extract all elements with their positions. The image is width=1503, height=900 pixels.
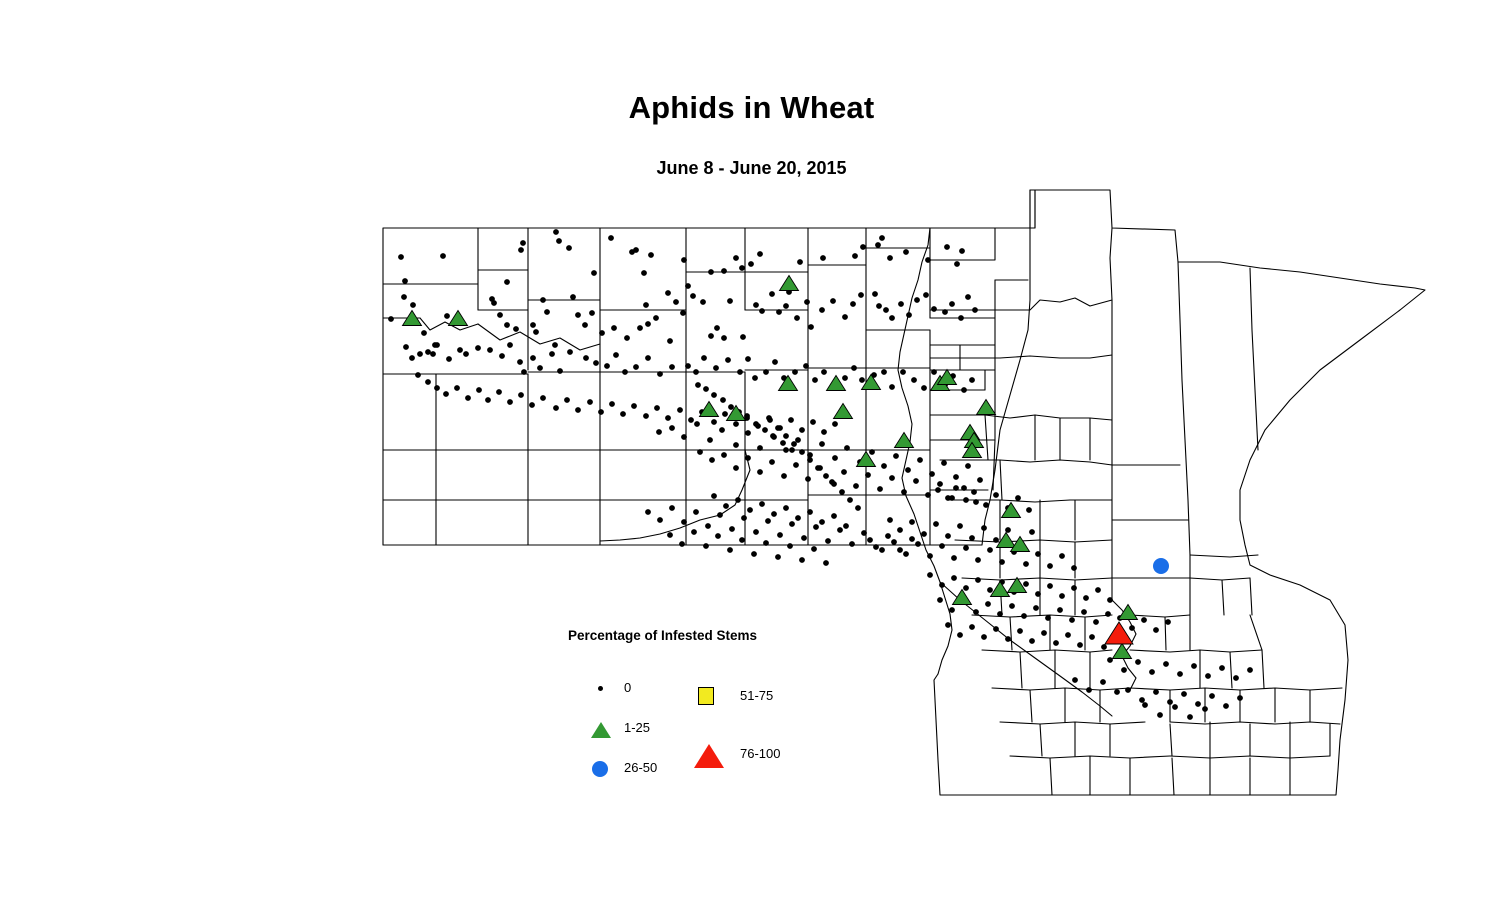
map-point-0 xyxy=(783,505,789,511)
legend-title: Percentage of Infested Stems xyxy=(568,628,757,643)
map-point-0 xyxy=(507,399,513,405)
map-point-1-25 xyxy=(834,404,853,419)
map-point-0 xyxy=(911,377,917,383)
map-point-0 xyxy=(723,503,729,509)
map-point-0 xyxy=(829,479,835,485)
map-point-0 xyxy=(721,268,727,274)
map-point-0 xyxy=(727,298,733,304)
map-point-0 xyxy=(388,316,394,322)
map-point-0 xyxy=(958,315,964,321)
map-point-0 xyxy=(521,369,527,375)
map-point-0 xyxy=(735,497,741,503)
map-point-0 xyxy=(752,375,758,381)
map-point-0 xyxy=(443,391,449,397)
map-point-0 xyxy=(914,297,920,303)
map-point-0 xyxy=(1205,673,1211,679)
map-point-0 xyxy=(819,519,825,525)
map-point-0 xyxy=(624,335,630,341)
map-point-0 xyxy=(953,474,959,480)
map-point-0 xyxy=(440,253,446,259)
map-point-0 xyxy=(909,536,915,542)
map-point-0 xyxy=(807,509,813,515)
map-point-0 xyxy=(1202,706,1208,712)
map-point-0 xyxy=(665,415,671,421)
map-point-0 xyxy=(927,572,933,578)
map-point-0 xyxy=(781,473,787,479)
map-point-0 xyxy=(987,587,993,593)
map-point-0 xyxy=(807,452,813,458)
map-point-0 xyxy=(769,459,775,465)
map-point-0 xyxy=(733,465,739,471)
map-point-0 xyxy=(665,290,671,296)
map-point-0 xyxy=(898,301,904,307)
map-point-0 xyxy=(965,463,971,469)
map-point-0 xyxy=(1157,712,1163,718)
map-point-0 xyxy=(432,342,438,348)
map-point-0 xyxy=(813,524,819,530)
map-point-0 xyxy=(794,315,800,321)
map-point-0 xyxy=(869,449,875,455)
map-point-1-25 xyxy=(780,276,799,291)
map-point-0 xyxy=(1053,640,1059,646)
map-point-0 xyxy=(1135,659,1141,665)
map-point-0 xyxy=(832,421,838,427)
map-point-0 xyxy=(499,353,505,359)
map-point-1-25 xyxy=(977,400,996,415)
map-point-0 xyxy=(507,342,513,348)
map-point-0 xyxy=(865,472,871,478)
map-point-0 xyxy=(748,261,754,267)
map-point-0 xyxy=(993,626,999,632)
map-point-0 xyxy=(673,299,679,305)
map-point-0 xyxy=(788,417,794,423)
map-point-0 xyxy=(965,294,971,300)
map-point-0 xyxy=(669,364,675,370)
map-point-0 xyxy=(591,270,597,276)
map-point-0 xyxy=(657,517,663,523)
map-point-0 xyxy=(721,335,727,341)
map-point-0 xyxy=(691,529,697,535)
map-point-0 xyxy=(728,404,734,410)
map-point-0 xyxy=(933,521,939,527)
map-point-0 xyxy=(765,518,771,524)
map-point-0 xyxy=(679,541,685,547)
map-point-0 xyxy=(875,242,881,248)
map-point-0 xyxy=(1153,689,1159,695)
map-point-0 xyxy=(656,429,662,435)
map-point-0 xyxy=(737,369,743,375)
map-point-0 xyxy=(425,379,431,385)
map-point-0 xyxy=(793,462,799,468)
map-point-0 xyxy=(783,303,789,309)
map-point-0 xyxy=(1125,687,1131,693)
map-point-0 xyxy=(398,254,404,260)
map-point-0 xyxy=(1047,583,1053,589)
map-point-0 xyxy=(839,489,845,495)
map-point-1-25 xyxy=(449,311,468,326)
map-point-0 xyxy=(913,478,919,484)
map-point-0 xyxy=(985,601,991,607)
map-point-0 xyxy=(653,315,659,321)
map-point-0 xyxy=(557,368,563,374)
map-point-0 xyxy=(858,292,864,298)
map-point-0 xyxy=(701,355,707,361)
map-point-0 xyxy=(969,377,975,383)
map-point-0 xyxy=(703,386,709,392)
map-point-0 xyxy=(681,434,687,440)
map-point-0 xyxy=(552,342,558,348)
map-point-0 xyxy=(808,324,814,330)
map-point-1-25 xyxy=(700,402,719,417)
map-point-0 xyxy=(1142,702,1148,708)
map-point-0 xyxy=(681,519,687,525)
map-point-0 xyxy=(799,557,805,563)
map-point-0 xyxy=(945,622,951,628)
map-point-0 xyxy=(1163,661,1169,667)
map-point-0 xyxy=(415,372,421,378)
map-point-0 xyxy=(727,547,733,553)
map-point-0 xyxy=(425,349,431,355)
map-point-0 xyxy=(721,452,727,458)
map-point-0 xyxy=(1035,551,1041,557)
map-point-0 xyxy=(1041,630,1047,636)
map-point-0 xyxy=(1141,617,1147,623)
map-point-0 xyxy=(945,533,951,539)
map-point-0 xyxy=(853,483,859,489)
map-point-0 xyxy=(733,255,739,261)
map-point-0 xyxy=(973,499,979,505)
map-point-0 xyxy=(821,369,827,375)
map-point-0 xyxy=(703,543,709,549)
black-dot-icon xyxy=(590,676,616,702)
map-point-0 xyxy=(529,402,535,408)
map-point-0 xyxy=(700,299,706,305)
map-point-0 xyxy=(961,387,967,393)
map-point-0 xyxy=(889,475,895,481)
map-point-0 xyxy=(787,543,793,549)
map-point-0 xyxy=(876,303,882,309)
map-point-0 xyxy=(583,355,589,361)
map-point-0 xyxy=(1191,663,1197,669)
map-point-0 xyxy=(905,467,911,473)
map-point-0 xyxy=(613,352,619,358)
map-point-26-50 xyxy=(1153,558,1169,574)
map-point-0 xyxy=(454,385,460,391)
map-point-0 xyxy=(837,527,843,533)
map-point-0 xyxy=(446,356,452,362)
map-point-0 xyxy=(705,523,711,529)
map-point-0 xyxy=(622,369,628,375)
map-point-0 xyxy=(879,235,885,241)
map-point-0 xyxy=(1026,507,1032,513)
map-point-0 xyxy=(1172,704,1178,710)
map-point-0 xyxy=(1247,667,1253,673)
map-point-0 xyxy=(963,585,969,591)
map-point-0 xyxy=(757,445,763,451)
map-point-0 xyxy=(549,351,555,357)
map-point-0 xyxy=(497,312,503,318)
map-point-0 xyxy=(832,455,838,461)
map-point-0 xyxy=(1059,593,1065,599)
map-point-0 xyxy=(971,489,977,495)
map-point-0 xyxy=(695,382,701,388)
map-point-0 xyxy=(1089,634,1095,640)
map-point-0 xyxy=(1181,691,1187,697)
map-point-0 xyxy=(713,365,719,371)
map-point-0 xyxy=(657,371,663,377)
map-point-0 xyxy=(1071,585,1077,591)
map-point-1-25 xyxy=(1119,605,1138,620)
map-point-0 xyxy=(841,469,847,475)
map-point-0 xyxy=(1029,529,1035,535)
map-point-0 xyxy=(972,307,978,313)
map-point-0 xyxy=(648,252,654,258)
map-point-0 xyxy=(496,389,502,395)
map-point-0 xyxy=(1187,714,1193,720)
map-point-0 xyxy=(669,505,675,511)
map-point-0 xyxy=(709,457,715,463)
map-point-0 xyxy=(722,411,728,417)
map-point-0 xyxy=(821,429,827,435)
map-point-0 xyxy=(643,302,649,308)
map-point-0 xyxy=(608,235,614,241)
map-point-0 xyxy=(1071,565,1077,571)
map-point-0 xyxy=(929,471,935,477)
map-point-1-25 xyxy=(953,590,972,605)
map-point-0 xyxy=(847,497,853,503)
map-point-0 xyxy=(491,300,497,306)
map-point-0 xyxy=(975,577,981,583)
map-point-0 xyxy=(753,302,759,308)
map-point-0 xyxy=(776,309,782,315)
map-point-0 xyxy=(969,535,975,541)
map-point-0 xyxy=(949,607,955,613)
map-point-0 xyxy=(925,257,931,263)
map-point-0 xyxy=(804,299,810,305)
map-point-0 xyxy=(883,307,889,313)
map-point-0 xyxy=(641,270,647,276)
map-point-0 xyxy=(567,349,573,355)
map-point-0 xyxy=(518,392,524,398)
map-point-0 xyxy=(553,229,559,235)
map-point-1-25 xyxy=(1002,503,1021,518)
map-point-0 xyxy=(941,460,947,466)
map-point-0 xyxy=(903,249,909,255)
map-point-0 xyxy=(401,294,407,300)
map-page: Aphids in Wheat June 8 - June 20, 2015 xyxy=(0,0,1503,900)
map-point-0 xyxy=(711,419,717,425)
map-point-0 xyxy=(935,487,941,493)
map-point-0 xyxy=(842,375,848,381)
map-point-0 xyxy=(881,463,887,469)
map-point-0 xyxy=(939,582,945,588)
map-point-0 xyxy=(981,525,987,531)
map-point-0 xyxy=(1093,619,1099,625)
map-point-0 xyxy=(1033,605,1039,611)
map-point-0 xyxy=(803,363,809,369)
map-point-0 xyxy=(820,255,826,261)
map-point-0 xyxy=(575,407,581,413)
map-point-0 xyxy=(993,537,999,543)
map-point-0 xyxy=(771,511,777,517)
map-point-0 xyxy=(775,425,781,431)
map-point-0 xyxy=(417,351,423,357)
map-point-0 xyxy=(409,355,415,361)
map-point-0 xyxy=(685,283,691,289)
map-point-0 xyxy=(537,365,543,371)
map-point-0 xyxy=(763,369,769,375)
map-point-0 xyxy=(717,512,723,518)
map-point-0 xyxy=(1017,628,1023,634)
map-point-0 xyxy=(959,248,965,254)
map-point-0 xyxy=(733,421,739,427)
map-point-0 xyxy=(1177,671,1183,677)
map-point-0 xyxy=(1047,563,1053,569)
map-point-0 xyxy=(444,313,450,319)
map-point-0 xyxy=(518,247,524,253)
map-point-0 xyxy=(789,521,795,527)
map-point-0 xyxy=(714,325,720,331)
map-point-0 xyxy=(582,322,588,328)
map-point-0 xyxy=(402,278,408,284)
map-point-0 xyxy=(792,369,798,375)
map-point-0 xyxy=(799,449,805,455)
map-point-0 xyxy=(921,385,927,391)
map-point-0 xyxy=(797,259,803,265)
map-point-76-100 xyxy=(1105,622,1133,644)
map-point-0 xyxy=(795,437,801,443)
map-point-0 xyxy=(533,329,539,335)
map-point-0 xyxy=(733,442,739,448)
map-point-0 xyxy=(842,314,848,320)
map-point-0 xyxy=(783,433,789,439)
map-point-0 xyxy=(957,632,963,638)
map-point-0 xyxy=(817,465,823,471)
map-point-0 xyxy=(530,322,536,328)
map-point-0 xyxy=(1107,597,1113,603)
map-point-0 xyxy=(909,519,915,525)
map-point-0 xyxy=(725,357,731,363)
map-point-0 xyxy=(690,293,696,299)
map-point-0 xyxy=(945,495,951,501)
map-point-0 xyxy=(931,369,937,375)
map-point-0 xyxy=(465,395,471,401)
map-point-0 xyxy=(609,401,615,407)
map-point-0 xyxy=(949,301,955,307)
map-point-0 xyxy=(981,634,987,640)
map-point-0 xyxy=(540,395,546,401)
map-point-0 xyxy=(757,469,763,475)
map-point-0 xyxy=(1101,644,1107,650)
map-point-0 xyxy=(954,261,960,267)
map-point-0 xyxy=(1021,613,1027,619)
map-point-0 xyxy=(593,360,599,366)
map-point-0 xyxy=(564,397,570,403)
map-point-0 xyxy=(1219,665,1225,671)
map-point-0 xyxy=(770,433,776,439)
map-point-0 xyxy=(897,527,903,533)
map-point-0 xyxy=(973,609,979,615)
map-point-0 xyxy=(667,338,673,344)
map-point-0 xyxy=(654,405,660,411)
map-point-0 xyxy=(757,251,763,257)
map-point-0 xyxy=(887,517,893,523)
map-point-0 xyxy=(476,387,482,393)
map-point-0 xyxy=(983,502,989,508)
map-point-0 xyxy=(530,355,536,361)
map-point-0 xyxy=(589,310,595,316)
map-point-0 xyxy=(693,509,699,515)
legend-label-26-50: 26-50 xyxy=(624,760,657,775)
map-point-0 xyxy=(1114,689,1120,695)
map-point-0 xyxy=(1105,611,1111,617)
map-point-0 xyxy=(1072,677,1078,683)
map-point-0 xyxy=(1005,636,1011,642)
map-point-0 xyxy=(921,531,927,537)
map-point-0 xyxy=(745,356,751,362)
map-point-0 xyxy=(961,485,967,491)
map-point-0 xyxy=(711,392,717,398)
blue-circle-icon xyxy=(590,756,616,782)
map-point-0 xyxy=(485,397,491,403)
map-point-0 xyxy=(487,347,493,353)
map-point-0 xyxy=(889,315,895,321)
map-point-0 xyxy=(844,445,850,451)
green-triangle-icon xyxy=(590,716,616,742)
map-point-0 xyxy=(925,492,931,498)
map-point-0 xyxy=(1029,638,1035,644)
map-point-0 xyxy=(861,530,867,536)
map-point-0 xyxy=(855,505,861,511)
map-point-1-25 xyxy=(991,582,1010,597)
map-point-0 xyxy=(631,403,637,409)
map-point-0 xyxy=(830,298,836,304)
map-point-0 xyxy=(893,453,899,459)
map-point-0 xyxy=(553,405,559,411)
map-point-0 xyxy=(457,347,463,353)
map-point-0 xyxy=(504,322,510,328)
map-point-0 xyxy=(879,547,885,553)
map-point-0 xyxy=(1129,625,1135,631)
map-point-0 xyxy=(681,257,687,263)
map-point-0 xyxy=(1023,581,1029,587)
map-point-0 xyxy=(1139,697,1145,703)
map-point-0 xyxy=(694,421,700,427)
map-point-0 xyxy=(881,369,887,375)
map-point-0 xyxy=(999,559,1005,565)
map-point-0 xyxy=(819,441,825,447)
map-point-0 xyxy=(434,385,440,391)
map-point-0 xyxy=(843,523,849,529)
legend-label-76-100: 76-100 xyxy=(740,746,780,761)
map-point-0 xyxy=(739,537,745,543)
map-point-0 xyxy=(851,365,857,371)
map-point-0 xyxy=(1237,695,1243,701)
map-point-0 xyxy=(667,532,673,538)
map-point-0 xyxy=(517,359,523,365)
map-point-0 xyxy=(923,292,929,298)
map-point-0 xyxy=(1209,693,1215,699)
map-point-0 xyxy=(1069,617,1075,623)
map-point-0 xyxy=(645,321,651,327)
map-point-0 xyxy=(719,427,725,433)
map-point-0 xyxy=(799,427,805,433)
map-point-0 xyxy=(1167,699,1173,705)
map-point-0 xyxy=(1035,591,1041,597)
map-point-0 xyxy=(544,309,550,315)
map-point-0 xyxy=(463,351,469,357)
map-point-0 xyxy=(977,477,983,483)
